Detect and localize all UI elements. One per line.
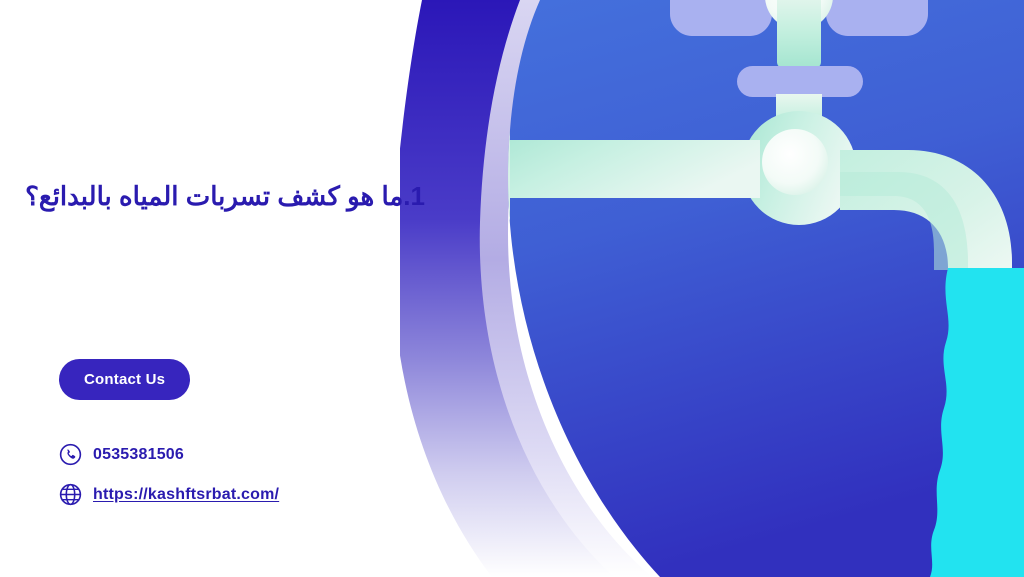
contact-us-button[interactable]: Contact Us [59,359,190,400]
faucet-collar [737,66,863,97]
phone-contact-row[interactable]: 0535381506 [59,443,184,466]
faucet-inlet-pipe [470,140,760,198]
faucet-artwork-panel [400,0,1024,577]
faucet-valve-highlight [762,129,828,195]
phone-number-text: 0535381506 [93,446,184,464]
water-stream-top [946,268,1012,300]
website-url-link[interactable]: https://kashftsrbat.com/ [93,486,279,504]
page-title: 1.ما هو كشف تسربات المياه بالبدائع؟ [20,176,425,216]
promo-slide: 1.ما هو كشف تسربات المياه بالبدائع؟ Cont… [0,0,1024,577]
phone-in-circle-icon [59,443,82,466]
globe-icon [59,483,82,506]
content-column: 1.ما هو كشف تسربات المياه بالبدائع؟ Cont… [0,0,460,577]
website-contact-row[interactable]: https://kashftsrbat.com/ [59,483,279,506]
